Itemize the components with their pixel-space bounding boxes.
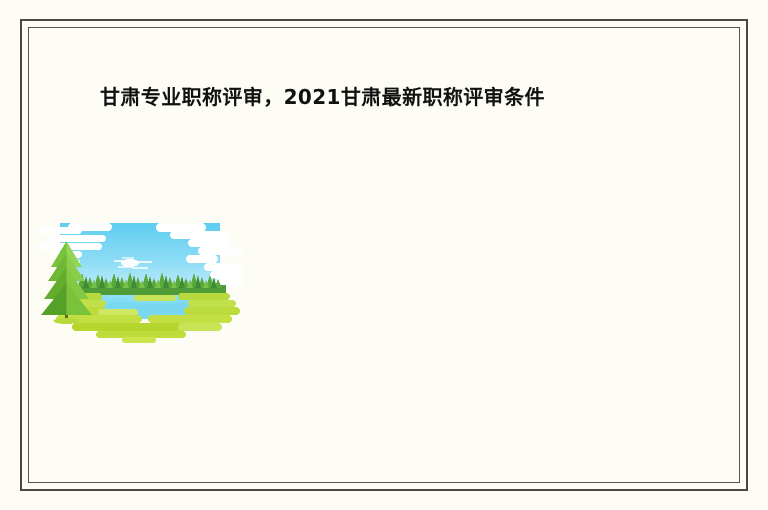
page-title: 甘肃专业职称评审，2021甘肃最新职称评审条件 [100,83,545,111]
document-page: 甘肃专业职称评审，2021甘肃最新职称评审条件 [0,0,768,510]
forest-lake-landscape-illustration [38,221,242,343]
